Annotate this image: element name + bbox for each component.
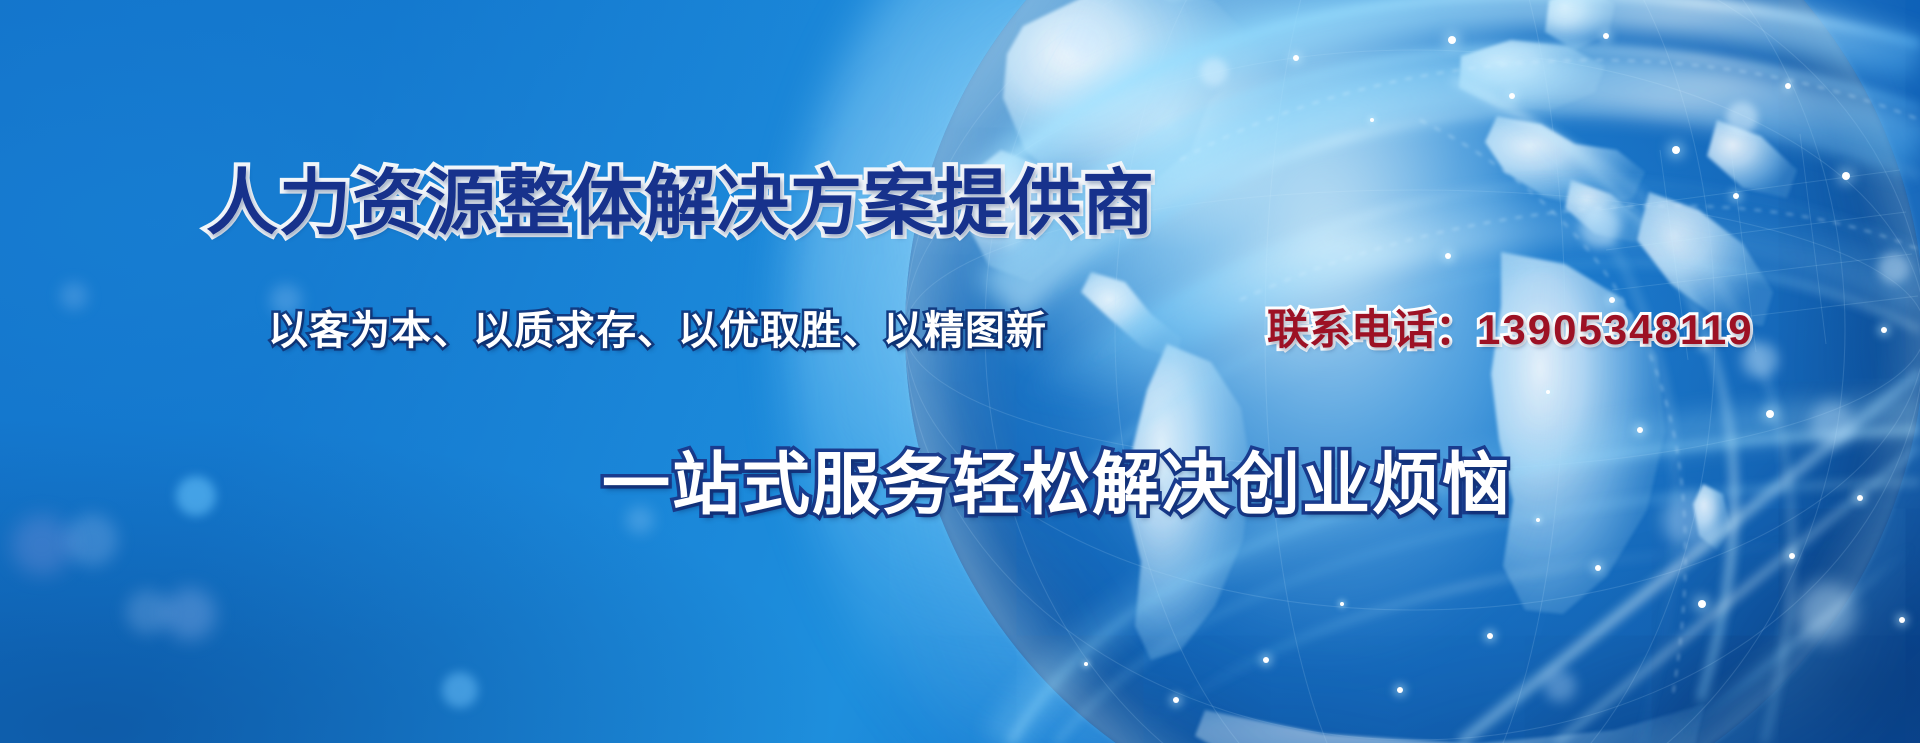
slogan-text: 一站式服务轻松解决创业烦恼 xyxy=(602,451,1512,519)
tagline-text: 以客为本、以质求存、以优取胜、以精图新 xyxy=(268,311,1047,351)
page-title: 人力资源整体解决方案提供商 xyxy=(206,168,1155,240)
hero-banner: 人力资源整体解决方案提供商 以客为本、以质求存、以优取胜、以精图新 联系电话：1… xyxy=(0,0,1920,743)
contact-phone[interactable]: 联系电话：13905348119 xyxy=(1267,309,1754,351)
banner-copy: 人力资源整体解决方案提供商 以客为本、以质求存、以优取胜、以精图新 联系电话：1… xyxy=(0,0,1920,743)
contact-number: 13905348119 xyxy=(1477,306,1754,353)
contact-label: 联系电话： xyxy=(1267,306,1477,353)
